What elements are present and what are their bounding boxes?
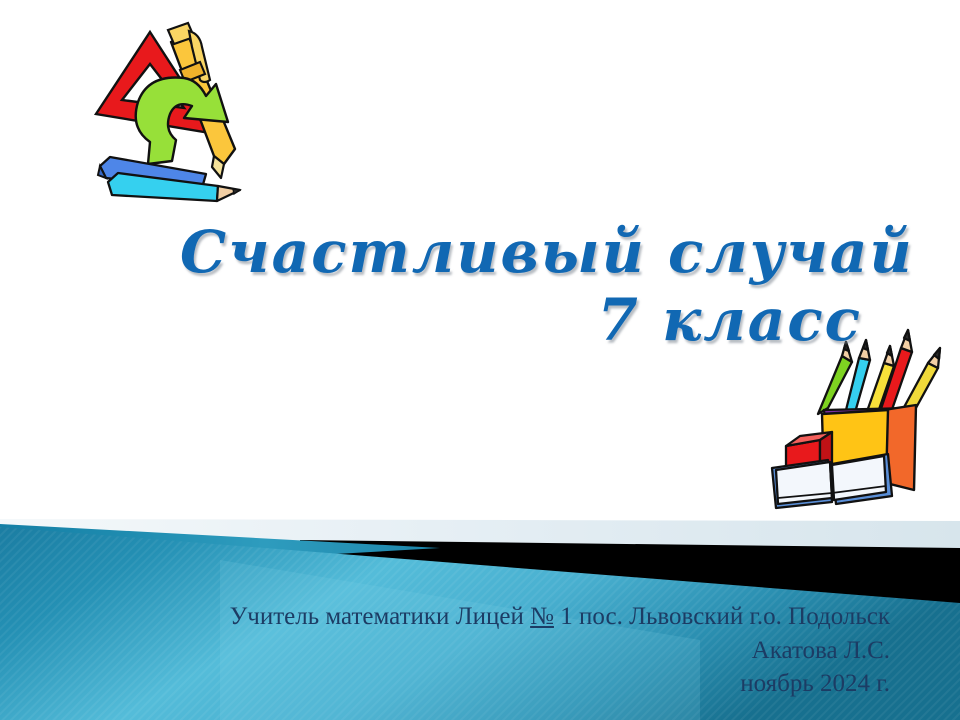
banner-teal-upper — [0, 524, 440, 556]
banner-pale-wedge — [0, 519, 960, 551]
presentation-slide: Счастливый случай 7 класс Учитель матема… — [0, 0, 960, 720]
footer-block: Учитель математики Лицей № 1 пос. Львовс… — [40, 600, 890, 701]
footer-line-date: ноябрь 2024 г. — [40, 667, 890, 701]
stationery-clipart — [88, 18, 278, 208]
footer-institution-prefix: Учитель математики Лицей — [230, 603, 531, 630]
page-title: Счастливый случай — [180, 218, 900, 286]
page-subtitle: 7 класс — [180, 286, 900, 354]
title-block: Счастливый случай 7 класс — [180, 218, 900, 355]
footer-institution-suffix: 1 пос. Львовский г.о. Подольск — [554, 603, 890, 630]
footer-line-author: Акатова Л.С. — [40, 634, 890, 668]
footer-line-institution: Учитель математики Лицей № 1 пос. Львовс… — [40, 600, 890, 634]
numero-sign: № — [530, 603, 554, 630]
